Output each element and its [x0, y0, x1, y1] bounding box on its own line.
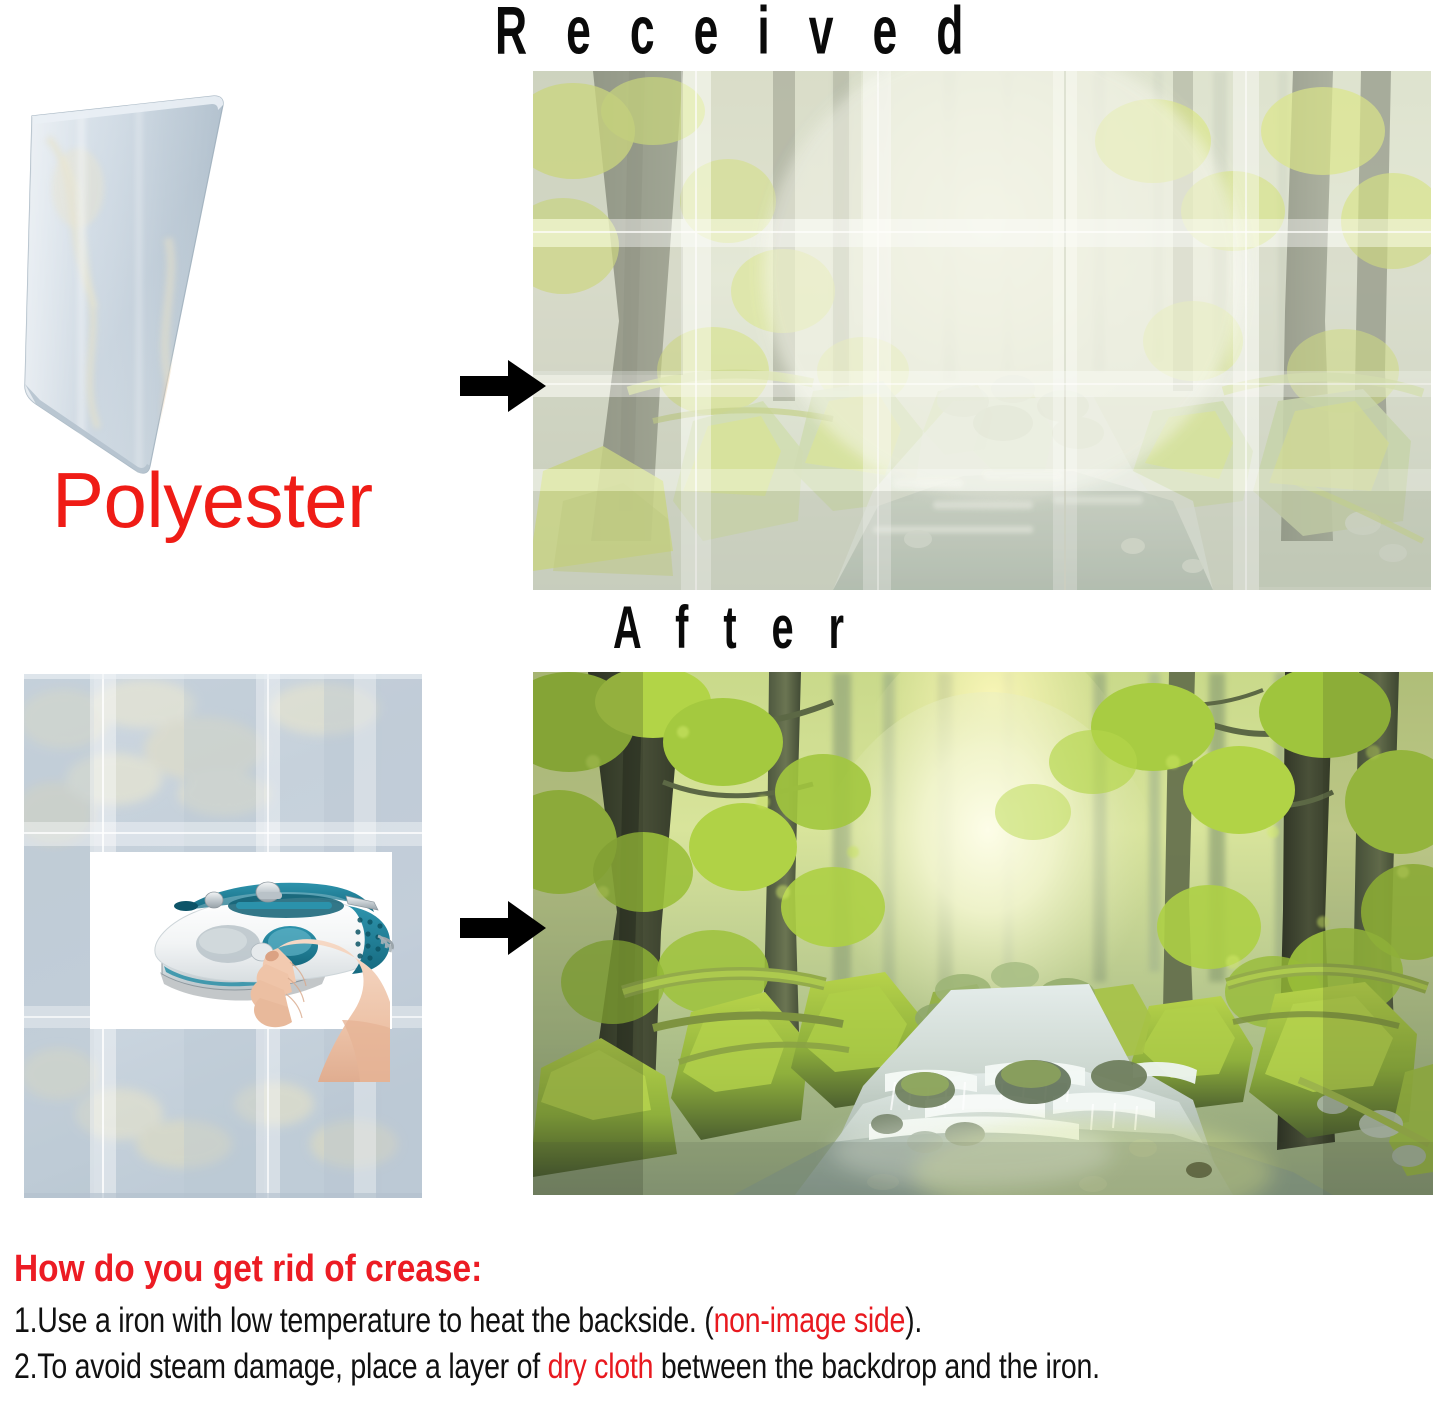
crease-heading: How do you get rid of crease: [14, 1248, 1264, 1291]
instruction-line-2: 2.To avoid steam damage, place a layer o… [14, 1347, 1171, 1387]
instructions-block: How do you get rid of crease: 1.Use a ir… [14, 1248, 1434, 1393]
instruction-line-1-suffix: ). [905, 1301, 922, 1340]
after-backdrop-image [533, 672, 1433, 1195]
received-backdrop-image [533, 71, 1431, 590]
iron-photo [90, 852, 392, 1029]
instruction-line-2-suffix: between the backdrop and the iron. [653, 1347, 1100, 1386]
instruction-line-2-prefix: 2.To avoid steam damage, place a layer o… [14, 1347, 548, 1386]
instruction-line-1-prefix: 1.Use a iron with low temperature to hea… [14, 1301, 714, 1340]
instruction-line-2-highlight: dry cloth [548, 1347, 654, 1386]
page-title-after: A f t e r [613, 593, 856, 663]
right-arrow-icon [460, 898, 546, 963]
instruction-line-1: 1.Use a iron with low temperature to hea… [14, 1301, 1171, 1341]
folded-fabric-image [18, 78, 433, 478]
polyester-label: Polyester [52, 455, 373, 546]
page-title-received: R e c e i v e d [495, 0, 977, 70]
instruction-line-1-highlight: non-image side [714, 1301, 906, 1340]
right-arrow-icon [460, 358, 546, 419]
